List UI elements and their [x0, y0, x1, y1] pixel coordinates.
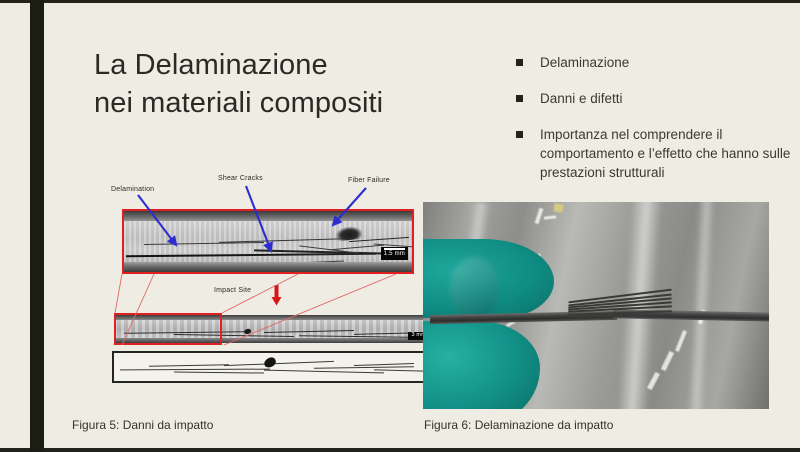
slide-title: La Delaminazione nei materiali compositi — [94, 46, 514, 122]
annotation-label-fiber-failure: Fiber Failure — [348, 177, 390, 184]
slide-bottom-border — [0, 448, 800, 452]
bullet-text: Importanza nel comprendere il comportame… — [540, 125, 800, 182]
slide-canvas: La Delaminazione nei materiali compositi… — [44, 3, 800, 448]
bullet-text: Delaminazione — [540, 53, 800, 72]
bullet-text: Danni e difetti — [540, 89, 800, 108]
damage-schematic-panel — [112, 351, 434, 383]
slide-root: La Delaminazione nei materiali compositi… — [0, 0, 800, 452]
strip-crack-line — [264, 330, 354, 333]
schematic-line — [149, 364, 229, 366]
delaminated-laminate — [430, 301, 769, 334]
delamination-crack — [126, 253, 376, 258]
schematic-line — [174, 371, 264, 373]
square-bullet-icon — [516, 59, 523, 66]
schematic-line — [120, 369, 270, 371]
fiber-failure-zone — [335, 226, 362, 242]
bullet-item-danni-e-difetti: Danni e difetti — [516, 89, 800, 108]
impact-damage-spot — [243, 328, 251, 335]
square-bullet-icon — [516, 95, 523, 102]
title-line-2: nei materiali compositi — [94, 84, 514, 122]
figure-6-caption: Figura 6: Delaminazione da impatto — [424, 418, 613, 432]
scale-bar-tick — [384, 248, 405, 250]
crack-line — [219, 238, 349, 243]
annotation-label-shear-cracks: Shear Cracks — [218, 175, 263, 182]
title-line-1: La Delaminazione — [94, 49, 328, 81]
scale-bar-label: 1.5 mm — [384, 251, 405, 257]
micrograph-bottom-surface — [124, 262, 412, 272]
impact-site-highlight-box — [114, 313, 222, 345]
shear-crack-line — [329, 245, 384, 251]
schematic-line — [314, 366, 414, 368]
laminate-delamination-peak — [568, 295, 672, 320]
figure-6-photo — [423, 202, 769, 409]
schematic-impact-blob — [263, 356, 278, 369]
crack-line — [144, 242, 264, 245]
schematic-line — [224, 361, 334, 366]
slide-left-accent-bar — [30, 0, 44, 452]
micrograph-laminate-body — [124, 221, 412, 263]
figure-5-caption: Figura 5: Danni da impatto — [72, 418, 213, 432]
square-bullet-icon — [516, 131, 523, 138]
schematic-line — [374, 369, 424, 371]
schematic-line — [264, 370, 384, 374]
bullet-list: Delaminazione Danni e difetti Importanza… — [516, 53, 800, 199]
bullet-item-importanza: Importanza nel comprendere il comportame… — [516, 125, 800, 182]
impact-site-arrow-icon — [271, 285, 282, 306]
figure-5-group: Delamination Shear Cracks Fiber Failure … — [66, 173, 416, 408]
annotation-label-impact-site: Impact Site — [214, 287, 251, 294]
annotation-label-delamination: Delamination — [111, 186, 154, 193]
micrograph-cross-section: 1.5 mm — [122, 209, 414, 274]
projection-line — [115, 274, 122, 313]
scale-bar-1-5mm: 1.5 mm — [381, 247, 408, 260]
bullet-item-delaminazione: Delaminazione — [516, 53, 800, 72]
